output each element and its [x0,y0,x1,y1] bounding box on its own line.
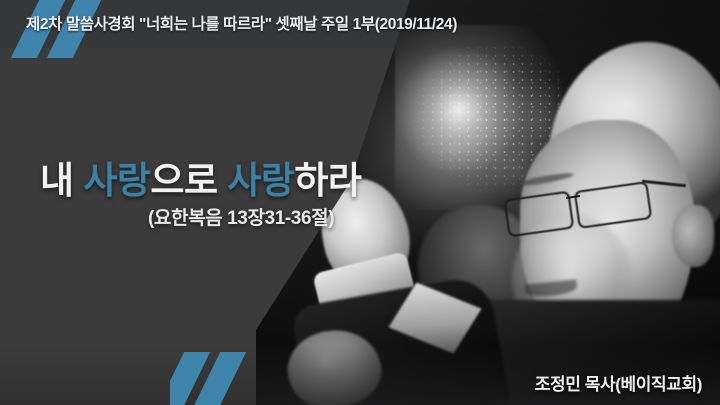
title-segment-1: 내 [40,160,83,201]
title-accent-2: 사랑 [227,160,294,201]
sermon-title-slide: 제2차 말씀사경회 "너희는 나를 따르라" 셋째날 주일 1부(2019/11… [0,0,720,405]
bottom-left-slash-decoration [170,352,280,405]
series-header-text: 제2차 말씀사경회 "너희는 나를 따르라" 셋째날 주일 1부(2019/11… [26,12,457,34]
speaker-credit: 조정민 목사(베이직교회) [535,370,702,395]
scripture-reference: (요한복음 13장31-36절) [148,203,334,230]
sermon-title: 내 사랑으로 사랑하라 [40,150,361,204]
title-accent-1: 사랑 [83,160,150,201]
title-segment-3: 하라 [294,160,361,201]
title-segment-2: 으로 [150,160,227,201]
